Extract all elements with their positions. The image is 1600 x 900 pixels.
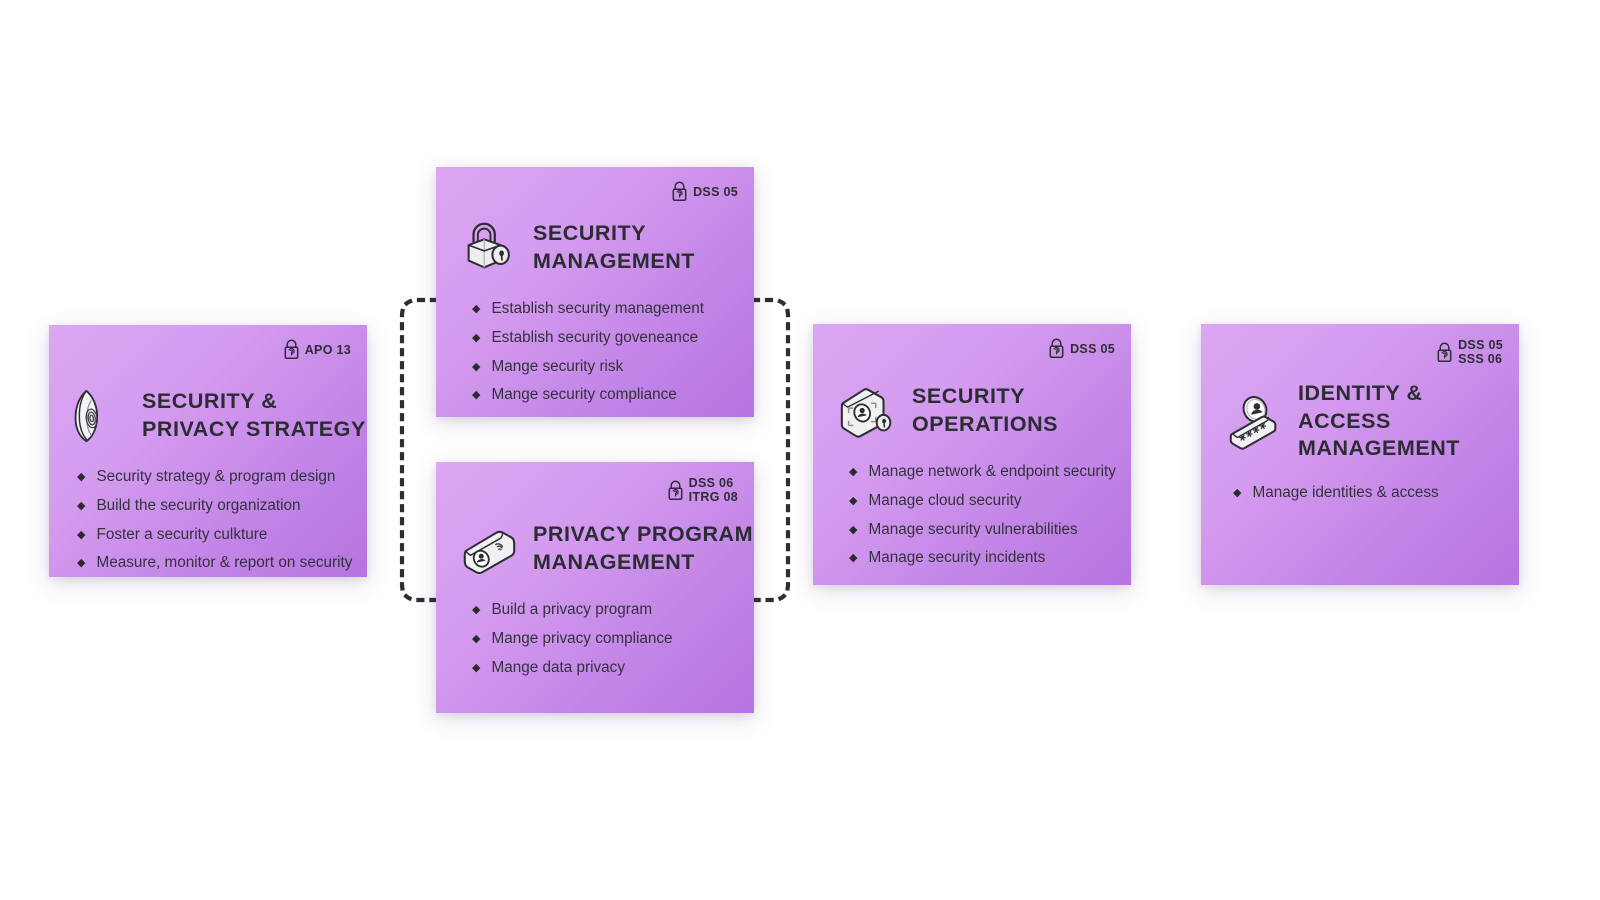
list-item-label: Build the security organization xyxy=(96,498,300,515)
list-item: ◆Mange security compliance xyxy=(472,387,754,404)
badge-code-list: DSS 06 ITRG 08 xyxy=(689,476,738,504)
bullet-icon: ◆ xyxy=(849,467,857,478)
lock-fingerprint-icon xyxy=(671,181,688,202)
list-item-label: Foster a security culkture xyxy=(96,527,267,544)
list-item: ◆Manage security incidents xyxy=(849,550,1131,567)
list-item: ◆Mange security risk xyxy=(472,359,754,376)
bullet-icon: ◆ xyxy=(472,605,480,616)
list-item: ◆Manage cloud security xyxy=(849,493,1131,510)
badge-code-list: APO 13 xyxy=(305,343,351,357)
card-header-privacy-program-management: PRIVACY PROGRAM MANAGEMENT xyxy=(458,518,754,580)
capability-list-security-management: ◆Establish security management ◆Establis… xyxy=(472,301,754,404)
badge-identity-access-management: DSS 05 SSS 06 xyxy=(1436,338,1503,366)
list-item-label: Manage identities & access xyxy=(1252,485,1438,502)
card-header-security-operations: SECURITY OPERATIONS xyxy=(837,380,1131,442)
capability-list-identity-access-management: ◆Manage identities & access xyxy=(1233,485,1519,502)
list-item-label: Mange security compliance xyxy=(491,387,676,404)
bullet-icon: ◆ xyxy=(77,501,85,512)
card-security-operations[interactable]: DSS 05 SECURITY OPERATIONS ◆Manage ne xyxy=(813,324,1131,585)
card-security-privacy-strategy[interactable]: APO 13 SECURITY & PRIVACY STRATEGY ◆Secu… xyxy=(49,325,367,577)
bullet-icon: ◆ xyxy=(472,304,480,315)
list-item: ◆Build a privacy program xyxy=(472,602,754,619)
card-header-security-management: SECURITY MANAGEMENT xyxy=(458,217,754,279)
bullet-icon: ◆ xyxy=(472,362,480,373)
list-item-label: Establish security goveneance xyxy=(491,330,698,347)
connector-left-bracket xyxy=(402,300,436,600)
badge-security-management: DSS 05 xyxy=(671,181,738,202)
lock-fingerprint-icon xyxy=(1436,342,1453,363)
user-badge-password-icon: ∗ ∗ ∗ ∗ xyxy=(1223,390,1285,452)
card-header-identity-access-management: ∗ ∗ ∗ ∗ IDENTITY & ACCESS MANAGEMENT xyxy=(1223,380,1519,463)
list-item: ◆Establish security management xyxy=(472,301,754,318)
list-item-label: Manage security vulnerabilities xyxy=(868,522,1077,539)
badge-security-privacy-strategy: APO 13 xyxy=(283,339,351,360)
id-card-fingerprint-icon xyxy=(458,518,520,580)
lock-fingerprint-icon xyxy=(667,480,684,501)
card-identity-access-management[interactable]: DSS 05 SSS 06 ∗ ∗ ∗ ∗ IDENTITY & ACCESS … xyxy=(1201,324,1519,585)
connector-right-bracket xyxy=(754,300,788,600)
card-title: SECURITY MANAGEMENT xyxy=(533,220,695,275)
bullet-icon: ◆ xyxy=(849,496,857,507)
list-item: ◆Measure, monitor & report on security xyxy=(77,555,367,572)
card-privacy-program-management[interactable]: DSS 06 ITRG 08 PRIVACY PROGRAM MANAGEMEN… xyxy=(436,462,754,713)
list-item: ◆Establish security goveneance xyxy=(472,330,754,347)
card-title: SECURITY OPERATIONS xyxy=(912,383,1058,438)
bullet-icon: ◆ xyxy=(472,663,480,674)
list-item-label: Mange data privacy xyxy=(491,660,625,677)
bullet-icon: ◆ xyxy=(849,525,857,536)
card-security-management[interactable]: DSS 05 SECURITY MANAGEMENT ◆Establish se… xyxy=(436,167,754,417)
padlock-key-icon xyxy=(458,217,520,279)
badge-code: DSS 05 xyxy=(693,185,738,199)
bullet-icon: ◆ xyxy=(472,390,480,401)
card-header-security-privacy-strategy: SECURITY & PRIVACY STRATEGY xyxy=(67,385,367,447)
list-item: ◆Mange data privacy xyxy=(472,660,754,677)
badge-code: SSS 06 xyxy=(1458,352,1503,366)
badge-code: DSS 06 xyxy=(689,476,738,490)
badge-code-list: DSS 05 SSS 06 xyxy=(1458,338,1503,366)
bullet-icon: ◆ xyxy=(77,558,85,569)
card-title: PRIVACY PROGRAM MANAGEMENT xyxy=(533,521,753,576)
badge-code: DSS 05 xyxy=(1458,338,1503,352)
list-item-label: Build a privacy program xyxy=(491,602,652,619)
bullet-icon: ◆ xyxy=(849,553,857,564)
lock-fingerprint-icon xyxy=(1048,338,1065,359)
badge-code: APO 13 xyxy=(305,343,351,357)
bullet-icon: ◆ xyxy=(472,333,480,344)
fingerprint-scanner-icon xyxy=(67,385,129,447)
list-item: ◆Manage identities & access xyxy=(1233,485,1519,502)
lock-fingerprint-icon xyxy=(283,339,300,360)
list-item-label: Manage security incidents xyxy=(868,550,1045,567)
capability-list-privacy-program-management: ◆Build a privacy program ◆Mange privacy … xyxy=(472,602,754,676)
badge-code-list: DSS 05 xyxy=(1070,342,1115,356)
list-item-label: Mange security risk xyxy=(491,359,623,376)
list-item: ◆Manage security vulnerabilities xyxy=(849,522,1131,539)
badge-code: ITRG 08 xyxy=(689,490,738,504)
list-item: ◆Build the security organization xyxy=(77,498,367,515)
list-item-label: Manage cloud security xyxy=(868,493,1021,510)
bullet-icon: ◆ xyxy=(77,472,85,483)
list-item-label: Mange privacy compliance xyxy=(491,631,672,648)
list-item: ◆Mange privacy compliance xyxy=(472,631,754,648)
badge-code: DSS 05 xyxy=(1070,342,1115,356)
bullet-icon: ◆ xyxy=(1233,488,1241,499)
bullet-icon: ◆ xyxy=(77,530,85,541)
list-item-label: Measure, monitor & report on security xyxy=(96,555,352,572)
card-title: IDENTITY & ACCESS MANAGEMENT xyxy=(1298,380,1519,463)
badge-privacy-program-management: DSS 06 ITRG 08 xyxy=(667,476,738,504)
card-title: SECURITY & PRIVACY STRATEGY xyxy=(142,388,366,443)
badge-security-operations: DSS 05 xyxy=(1048,338,1115,359)
list-item: ◆Security strategy & program design xyxy=(77,469,367,486)
badge-code-list: DSS 05 xyxy=(693,185,738,199)
list-item-label: Manage network & endpoint security xyxy=(868,464,1115,481)
diagram-canvas: APO 13 SECURITY & PRIVACY STRATEGY ◆Secu… xyxy=(0,0,1600,900)
list-item-label: Security strategy & program design xyxy=(96,469,335,486)
list-item: ◆Foster a security culkture xyxy=(77,527,367,544)
access-panel-key-icon xyxy=(837,380,899,442)
bullet-icon: ◆ xyxy=(472,634,480,645)
list-item-label: Establish security management xyxy=(491,301,704,318)
capability-list-security-operations: ◆Manage network & endpoint security ◆Man… xyxy=(849,464,1131,567)
capability-list-security-privacy-strategy: ◆Security strategy & program design ◆Bui… xyxy=(77,469,367,572)
list-item: ◆Manage network & endpoint security xyxy=(849,464,1131,481)
